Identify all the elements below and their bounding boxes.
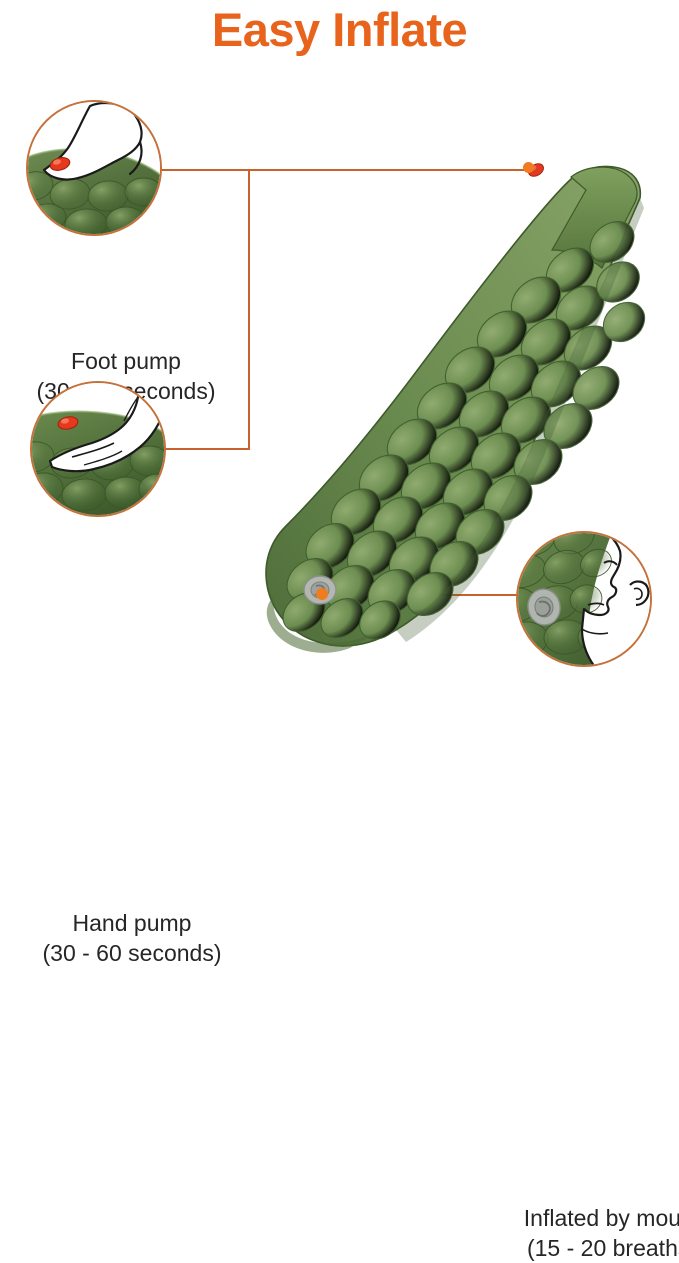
callout-foot-pump[interactable]: Foot pump (30 - 50 seconds) <box>26 100 162 236</box>
callout-inflate-by-mouth-caption: Inflated by mouth (15 - 20 breaths) <box>472 1203 679 1263</box>
callout-inflate-by-mouth-label: Inflated by mouth <box>472 1203 679 1233</box>
callout-inflate-by-mouth[interactable]: Inflated by mouth (15 - 20 breaths) <box>516 531 652 667</box>
callout-inflate-by-mouth-detail: (15 - 20 breaths) <box>472 1233 679 1263</box>
face-blowing-valve-icon <box>516 531 652 667</box>
hand-on-pad-icon <box>30 381 166 517</box>
callout-hand-pump-caption: Hand pump (30 - 60 seconds) <box>0 908 272 968</box>
infographic-canvas: Easy Inflate <box>0 0 679 735</box>
callout-foot-pump-label: Foot pump <box>0 346 266 376</box>
connector-dot-bottom-valve <box>316 588 328 600</box>
foot-on-pad-icon <box>26 100 162 236</box>
callout-hand-pump-label: Hand pump <box>0 908 272 938</box>
callout-hand-pump-detail: (30 - 60 seconds) <box>0 938 272 968</box>
callout-hand-pump[interactable]: Hand pump (30 - 60 seconds) <box>30 381 166 517</box>
page-title: Easy Inflate <box>0 2 679 58</box>
connector-dot-top-valve <box>523 162 534 173</box>
